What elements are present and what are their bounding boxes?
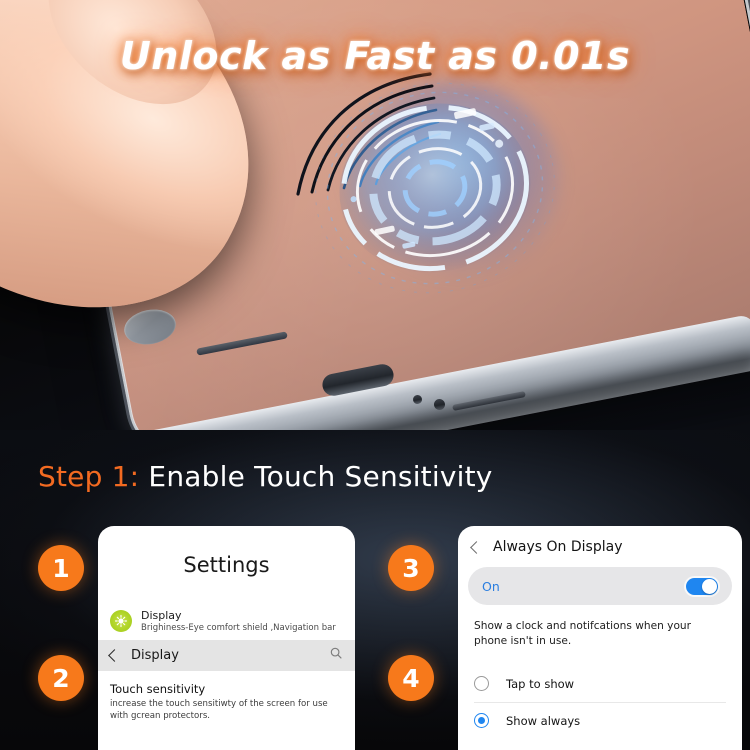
step-badge-3: 3	[388, 545, 434, 591]
step-badge-4: 4	[388, 655, 434, 701]
aod-option-tap-to-show[interactable]: Tap to show	[458, 666, 742, 702]
radio-selected-icon[interactable]	[474, 713, 489, 728]
step-badge-2: 2	[38, 655, 84, 701]
aod-toggle-label: On	[482, 579, 686, 594]
aod-description: Show a clock and notifcations when your …	[458, 605, 742, 650]
settings-screenshot-card: Settings D	[98, 526, 355, 750]
settings-item-display[interactable]: Display Brighiness-Eye comfort shield ,N…	[98, 610, 355, 633]
promo-image-root: Unlock as Fast as 0.01s Step 1: Enable T…	[0, 0, 750, 750]
brightness-icon	[110, 610, 132, 632]
step-heading: Step 1: Enable Touch Sensitivity	[38, 460, 493, 493]
fingerprint-icon	[280, 66, 480, 216]
aod-toggle-switch[interactable]	[686, 578, 718, 595]
aod-page-title: Always On Display	[493, 539, 622, 555]
touch-sensitivity-item[interactable]: Touch sensitivity increase the touch sen…	[98, 671, 355, 722]
toggle-knob	[702, 579, 717, 594]
display-subpage-title: Display	[131, 648, 317, 663]
touch-sensitivity-title: Touch sensitivity	[110, 682, 343, 696]
step-badge-1: 1	[38, 545, 84, 591]
radio-unselected-icon[interactable]	[474, 676, 489, 691]
settings-item-subtitle: Brighiness-Eye comfort shield ,Navigatio…	[141, 623, 336, 633]
step-title: Enable Touch Sensitivity	[148, 460, 492, 493]
settings-page-title: Settings	[98, 553, 355, 577]
chevron-left-icon[interactable]	[108, 649, 121, 662]
chevron-left-icon[interactable]	[470, 541, 483, 554]
step-label: Step 1:	[38, 460, 139, 493]
aod-toggle-row[interactable]: On	[468, 567, 732, 605]
settings-item-title: Display	[141, 610, 336, 623]
hero-title: Unlock as Fast as 0.01s	[0, 34, 750, 78]
aod-option-label: Tap to show	[506, 677, 574, 691]
display-subpage-header: Display	[98, 640, 355, 671]
aod-option-show-always[interactable]: Show always	[458, 703, 742, 739]
always-on-display-screenshot-card: Always On Display On Show a clock and no…	[458, 526, 742, 750]
aod-header: Always On Display	[458, 526, 742, 555]
touch-sensitivity-description: increase the touch sensitiwty of the scr…	[110, 698, 343, 722]
search-icon[interactable]	[329, 646, 343, 665]
hero-photo-section: Unlock as Fast as 0.01s	[0, 0, 750, 452]
aod-option-label: Show always	[506, 714, 580, 728]
